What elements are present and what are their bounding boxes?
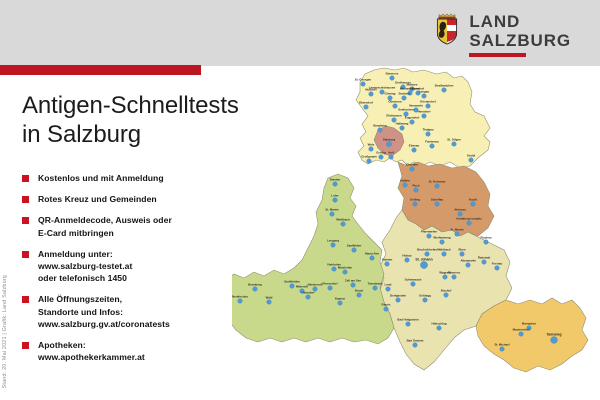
map-place-label: Köstendorf bbox=[420, 100, 435, 104]
map-test-site-dot bbox=[440, 240, 445, 245]
map-place-label: Hüttau bbox=[402, 254, 411, 258]
map-place-label: Obertrum bbox=[388, 100, 402, 104]
map-place-label: Abtenau bbox=[454, 208, 466, 212]
map-test-site-dot bbox=[519, 332, 524, 337]
map-test-site-dot bbox=[352, 248, 357, 253]
map-place-label: Oberndorf bbox=[359, 101, 373, 105]
info-bullet-line: www.salzburg-testet.at bbox=[38, 260, 132, 272]
map-place-label: Mattsee bbox=[407, 83, 418, 87]
map-place-label: Taxenbach bbox=[368, 282, 383, 286]
map-test-site-dot bbox=[361, 82, 366, 87]
info-bullet-text: Anmeldung unter:www.salzburg-testet.atod… bbox=[38, 248, 132, 285]
map-test-site-dot bbox=[351, 283, 356, 288]
map-test-site-dot bbox=[333, 198, 338, 203]
map-place-label: Flachau bbox=[481, 236, 492, 240]
map-test-site-dot bbox=[390, 76, 395, 81]
header-red-accent-bar bbox=[0, 65, 201, 75]
map-place-label: Mariapfarr bbox=[522, 322, 537, 326]
map-test-site-dot bbox=[373, 286, 378, 291]
map-test-site-dot bbox=[452, 142, 457, 147]
page-title-line1: Antigen-Schnelltests bbox=[22, 92, 239, 119]
map-place-label: St. Michael bbox=[494, 343, 509, 347]
logo-line-salzburg: SALZBURG bbox=[469, 32, 571, 49]
map-test-site-dot bbox=[500, 347, 505, 352]
map-test-site-dot bbox=[405, 258, 410, 263]
map-test-site-dot bbox=[425, 252, 430, 257]
map-place-label: Lend bbox=[385, 283, 392, 287]
map-test-site-dot bbox=[357, 293, 362, 298]
map-place-label: Bischofshofen bbox=[417, 248, 437, 252]
map-place-label: Mühlbach bbox=[437, 248, 451, 252]
map-test-site-dot bbox=[427, 234, 432, 239]
map-place-label: Eben bbox=[458, 248, 465, 252]
map-place-label: Elixhausen bbox=[386, 114, 401, 118]
map-place-label: Strobl bbox=[467, 154, 476, 158]
map-test-site-dot bbox=[402, 96, 407, 101]
map-test-site-dot bbox=[426, 132, 431, 137]
region-lungau bbox=[476, 298, 588, 372]
info-bullet-text: Rotes Kreuz und Gemeinden bbox=[38, 193, 157, 205]
map-place-label: St. Martin bbox=[450, 228, 463, 232]
map-place-label: St. Koloman bbox=[429, 180, 446, 184]
map-test-site-dot bbox=[410, 120, 415, 125]
map-test-site-dot bbox=[384, 307, 389, 312]
map-place-label: Leogang bbox=[327, 239, 339, 243]
map-place-label: Hallwang bbox=[396, 122, 409, 126]
bullet-square-icon bbox=[22, 175, 29, 182]
map-test-site-dot bbox=[413, 343, 418, 348]
map-test-site-dot bbox=[364, 105, 369, 110]
map-place-label: Dienten bbox=[330, 178, 341, 182]
info-bullet-line: E-Card mitbringen bbox=[38, 227, 172, 239]
map-place-label: St. Georgen bbox=[355, 78, 372, 82]
info-bullet-line: www.apothekerkammer.at bbox=[38, 351, 145, 363]
map-test-site-dot bbox=[267, 300, 272, 305]
bullet-square-icon bbox=[22, 342, 29, 349]
map-test-site-dot bbox=[466, 263, 471, 268]
map-place-label: Pfarrwerfen bbox=[421, 230, 437, 234]
map-place-label: St. Johann bbox=[415, 257, 432, 261]
map-test-site-dot bbox=[460, 252, 465, 257]
page-title-line2: in Salzburg bbox=[22, 120, 262, 149]
map-place-label: Stuhlfelden bbox=[284, 280, 300, 284]
map-place-label: Annaberg-Lungötz bbox=[456, 217, 482, 221]
map-test-site-dot bbox=[238, 299, 243, 304]
map-test-site-dot bbox=[369, 147, 374, 152]
map-test-site-dot bbox=[467, 221, 472, 226]
map-place-label: Nußdorf bbox=[365, 88, 376, 92]
map-test-site-dot bbox=[443, 275, 448, 280]
map-test-site-dot bbox=[379, 155, 384, 160]
map-place-label: Filzmoos bbox=[448, 271, 461, 275]
info-bullet-line: Apotheken: bbox=[38, 339, 145, 351]
map-test-site-dot bbox=[551, 337, 558, 344]
map-test-site-dot bbox=[333, 182, 338, 187]
bullet-square-icon bbox=[22, 217, 29, 224]
bullet-square-icon bbox=[22, 296, 29, 303]
map-place-label: Piesendorf bbox=[323, 282, 338, 286]
map-place-label: Kaprun bbox=[335, 297, 345, 301]
map-test-site-dot bbox=[389, 155, 394, 160]
map-place-label: Hallein bbox=[400, 179, 410, 183]
salzburg-district-map: St. GeorgenBürmoosLamprechtshausenNußdor… bbox=[232, 62, 592, 398]
map-place-label: Göming bbox=[385, 92, 396, 96]
map-test-site-dot bbox=[435, 202, 440, 207]
map-test-site-dot bbox=[393, 104, 398, 109]
info-bullet-item: QR-Anmeldecode, Ausweis oderE-Card mitbr… bbox=[22, 214, 237, 238]
map-place-label: Bad Hofgastein bbox=[397, 318, 418, 322]
map-test-site-dot bbox=[378, 128, 383, 133]
map-test-site-dot bbox=[413, 202, 418, 207]
map-test-site-dot bbox=[386, 141, 391, 146]
map-place-label: Wald bbox=[266, 296, 273, 300]
map-test-site-dot bbox=[385, 262, 390, 267]
map-test-site-dot bbox=[306, 295, 311, 300]
map-test-site-dot bbox=[367, 159, 372, 164]
map-test-site-dot bbox=[328, 286, 333, 291]
map-test-site-dot bbox=[469, 158, 474, 163]
region-pinzgau bbox=[232, 174, 394, 344]
map-test-site-dot bbox=[290, 284, 295, 289]
map-test-site-dot bbox=[338, 301, 343, 306]
map-place-label: Neukirchen bbox=[232, 295, 248, 299]
map-place-label: Maishofen bbox=[338, 266, 353, 270]
map-place-label: Forstau bbox=[492, 262, 503, 266]
map-place-label: Golling bbox=[410, 198, 420, 202]
map-test-site-dot bbox=[330, 212, 335, 217]
info-bullet-item: Anmeldung unter:www.salzburg-testet.atod… bbox=[22, 248, 237, 285]
map-place-label: Hüttschlag bbox=[432, 322, 447, 326]
map-place-label: Bruck bbox=[355, 289, 364, 293]
info-bullet-text: Alle Öffnungszeiten,Standorte und Infos:… bbox=[38, 293, 170, 330]
map-test-site-dot bbox=[343, 270, 348, 275]
map-test-site-dot bbox=[332, 267, 337, 272]
map-place-label: Altenmarkt bbox=[460, 259, 475, 263]
land-salzburg-logo: LAND SALZBURG bbox=[434, 12, 571, 57]
map-place-label: Wals bbox=[368, 143, 375, 147]
map-place-label: Saalfelden bbox=[347, 244, 362, 248]
map-test-site-dot bbox=[484, 240, 489, 245]
map-test-site-dot bbox=[435, 184, 440, 189]
map-place-label: Mauterndorf bbox=[513, 328, 530, 332]
map-place-label: Schwarzach bbox=[405, 278, 422, 282]
map-test-site-dot bbox=[437, 326, 442, 331]
info-bullet-text: QR-Anmeldecode, Ausweis oderE-Card mitbr… bbox=[38, 214, 172, 238]
info-bullet-text: Kostenlos und mit Anmeldung bbox=[38, 172, 164, 184]
map-place-label: Goldegg bbox=[419, 294, 431, 298]
map-test-site-dot bbox=[331, 243, 336, 248]
map-place-label: Lengau bbox=[419, 90, 430, 94]
map-place-label: Großgmain bbox=[361, 155, 377, 159]
info-bullet-line: oder telefonisch 1450 bbox=[38, 272, 132, 284]
map-place-label: Dorfgastein bbox=[390, 294, 406, 298]
map-place-label: Bad Gastein bbox=[407, 339, 424, 343]
map-place-label: Radstadt bbox=[478, 256, 490, 260]
map-place-label: Faistenau bbox=[425, 140, 439, 144]
info-bullet-line: QR-Anmeldecode, Ausweis oder bbox=[38, 214, 172, 226]
info-bullet-line: Rotes Kreuz und Gemeinden bbox=[38, 193, 157, 205]
logo-line-land: LAND bbox=[469, 13, 571, 30]
map-test-site-dot bbox=[400, 126, 405, 131]
source-credit: Stand: 20. Mai 2021 | Grafik: Land Salzb… bbox=[2, 275, 8, 388]
map-place-label: Henndorf bbox=[418, 110, 431, 114]
map-place-label: Dienten bbox=[382, 258, 393, 262]
map-place-label: Kuchl bbox=[469, 198, 477, 202]
map-place-label: Grödig bbox=[376, 151, 386, 155]
map-place-label: Zell am See bbox=[345, 279, 361, 283]
map-place-label: Straßwalchen bbox=[435, 84, 454, 88]
map-test-site-dot bbox=[430, 144, 435, 149]
map-regions bbox=[232, 68, 588, 372]
info-bullet-line: Anmeldung unter: bbox=[38, 248, 132, 260]
map-place-label: Seekirchen bbox=[398, 108, 414, 112]
map-test-site-dot bbox=[410, 167, 415, 172]
map-place-label: Tamsweg bbox=[546, 333, 561, 337]
info-bullet-line: Kostenlos und mit Anmeldung bbox=[38, 172, 164, 184]
map-test-site-dot bbox=[370, 256, 375, 261]
map-test-site-dot bbox=[412, 148, 417, 153]
bullet-square-icon bbox=[22, 251, 29, 258]
info-bullet-list: Kostenlos und mit AnmeldungRotes Kreuz u… bbox=[22, 172, 237, 363]
infographic-page: LAND SALZBURG Antigen-Schnelltests in Sa… bbox=[0, 0, 600, 400]
map-place-label: Bürmoos bbox=[386, 72, 399, 76]
map-test-site-dot bbox=[495, 266, 500, 271]
page-title: Antigen-Schnelltests in Salzburg bbox=[22, 91, 262, 150]
map-test-site-dot bbox=[411, 282, 416, 287]
map-place-label: Uttendorf bbox=[301, 291, 314, 295]
map-place-label: St. Gilgen bbox=[447, 138, 461, 142]
map-test-site-dot bbox=[406, 322, 411, 327]
map-place-label: Lofer bbox=[331, 194, 339, 198]
map-place-label: Bischof bbox=[441, 289, 452, 293]
map-test-site-dot bbox=[253, 287, 258, 292]
map-place-label: Ebenau bbox=[409, 144, 420, 148]
info-bullet-item: Alle Öffnungszeiten,Standorte und Infos:… bbox=[22, 293, 237, 330]
map-test-site-dot bbox=[452, 275, 457, 280]
map-test-site-dot bbox=[386, 287, 391, 292]
map-place-label: Mittersill bbox=[296, 285, 308, 289]
map-place-label: Bramberg bbox=[248, 283, 262, 287]
logo-wordmark: LAND SALZBURG bbox=[469, 12, 571, 57]
map-test-site-dot bbox=[420, 261, 427, 268]
map-test-site-dot bbox=[471, 202, 476, 207]
map-test-site-dot bbox=[396, 298, 401, 303]
map-test-site-dot bbox=[403, 183, 408, 188]
map-place-label: Seeham bbox=[398, 92, 410, 96]
map-place-label: Werfenweng bbox=[433, 236, 450, 240]
salzburg-coat-of-arms-icon bbox=[434, 12, 460, 45]
map-place-label: Thalgau bbox=[422, 128, 433, 132]
map-place-label: St. Martin bbox=[325, 208, 338, 212]
map-test-site-dot bbox=[369, 92, 374, 97]
map-place-label: Weißbach bbox=[336, 218, 350, 222]
map-place-label: Oberalm bbox=[406, 163, 418, 167]
map-place-label: Maria Alm bbox=[365, 252, 379, 256]
map-place-label: Anif bbox=[388, 151, 394, 155]
map-test-site-dot bbox=[455, 232, 460, 237]
map-test-site-dot bbox=[422, 94, 427, 99]
map-place-label: Bergheim bbox=[373, 124, 387, 128]
info-bullet-item: Apotheken:www.apothekerkammer.at bbox=[22, 339, 237, 363]
info-bullet-line: www.salzburg.gv.at/coronatests bbox=[38, 318, 170, 330]
map-test-site-dot bbox=[423, 298, 428, 303]
map-test-site-dot bbox=[414, 188, 419, 193]
map-place-label: Niedernsill bbox=[308, 283, 323, 287]
info-bullet-text: Apotheken:www.apothekerkammer.at bbox=[38, 339, 145, 363]
map-test-site-dot bbox=[426, 104, 431, 109]
map-test-site-dot bbox=[422, 114, 427, 119]
info-bullet-item: Rotes Kreuz und Gemeinden bbox=[22, 193, 237, 205]
bullet-square-icon bbox=[22, 196, 29, 203]
map-test-site-dot bbox=[444, 293, 449, 298]
map-place-label: Scheffau bbox=[431, 198, 443, 202]
info-bullet-line: Alle Öffnungszeiten, bbox=[38, 293, 170, 305]
map-test-site-dot bbox=[482, 260, 487, 265]
info-bullet-line: Standorte und Infos: bbox=[38, 306, 170, 318]
map-place-label: Puch bbox=[412, 184, 419, 188]
map-test-site-dot bbox=[341, 222, 346, 227]
map-test-site-dot bbox=[442, 252, 447, 257]
logo-red-rule bbox=[469, 53, 526, 57]
map-test-site-dot bbox=[442, 88, 447, 93]
map-place-label: Salzburg bbox=[383, 137, 395, 141]
info-bullet-item: Kostenlos und mit Anmeldung bbox=[22, 172, 237, 184]
map-place-label: Rauris bbox=[382, 303, 391, 307]
map-place-label: Eugendorf bbox=[405, 116, 419, 120]
